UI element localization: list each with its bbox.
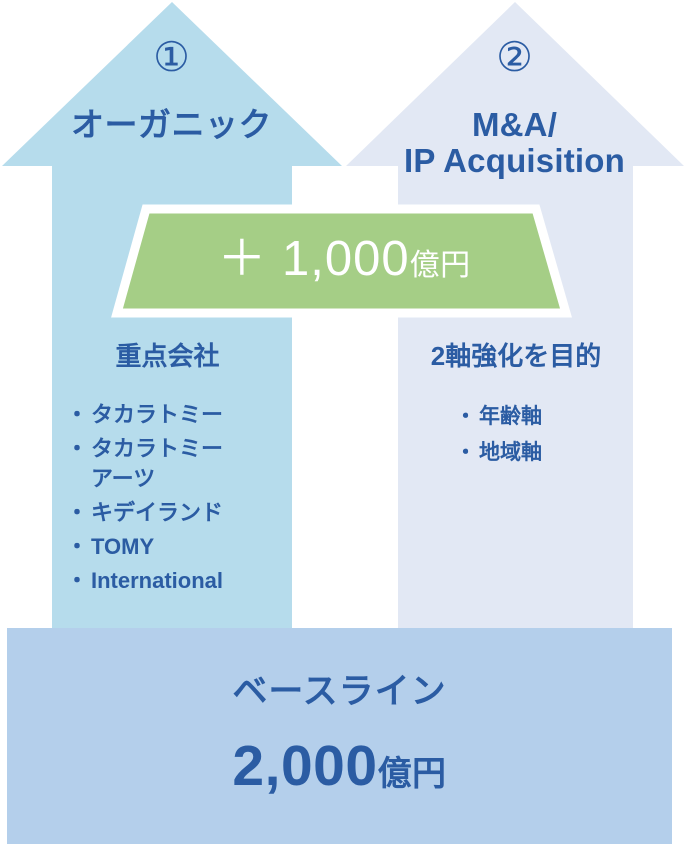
bullet-dot-icon: ・ [66, 434, 88, 463]
list-item-label: TOMY [91, 534, 154, 559]
list-item-label: International [91, 568, 223, 593]
bullet-dot-icon: ・ [66, 566, 88, 595]
mna-column-heading: 2軸強化を目的 [398, 342, 634, 371]
arrow-organic-label: オーガニック [0, 107, 343, 144]
baseline-value-unit: 億円 [378, 755, 447, 793]
list-item: ・地域軸 [455, 438, 640, 468]
list-item: ・タカラトミーアーツ [66, 434, 296, 493]
bullet-dot-icon: ・ [66, 400, 88, 429]
bullet-dot-icon: ・ [66, 498, 88, 527]
arrow-mna-shape [346, 2, 684, 640]
organic-column-heading: 重点会社 [40, 342, 295, 371]
list-item: ・タカラトミー [66, 400, 296, 429]
baseline-label: ベースライン [7, 672, 672, 711]
bullet-dot-icon: ・ [455, 402, 476, 432]
list-item-label: タカラトミーアーツ [91, 436, 223, 490]
mna-axis-list: ・年齢軸・地域軸 [455, 402, 640, 474]
circled-one-icon: ① [0, 35, 343, 81]
list-item: ・年齢軸 [455, 402, 640, 432]
organic-company-list: ・タカラトミー・タカラトミーアーツ・キデイランド・TOMY・Internatio… [66, 400, 296, 601]
list-item: ・キデイランド [66, 498, 296, 527]
list-item-label: 地域軸 [479, 441, 542, 464]
arrow-mna-label: M&A/ IP Acquisition [343, 107, 686, 178]
banner-amount: ＋ 1,000億円 [120, 232, 568, 287]
bullet-dot-icon: ・ [455, 438, 476, 468]
circled-two-icon: ② [343, 35, 686, 81]
bullet-dot-icon: ・ [66, 532, 88, 561]
banner-amount-value: ＋ 1,000 [217, 232, 409, 286]
list-item-label: 年齢軸 [479, 405, 542, 428]
growth-strategy-diagram: ① オーガニック ② M&A/ IP Acquisition ＋ 1,000億円… [0, 0, 686, 845]
list-item-label: キデイランド [91, 500, 223, 525]
baseline-value: 2,000億円 [7, 735, 672, 799]
banner-amount-unit: 億円 [410, 249, 471, 282]
list-item: ・International [66, 566, 296, 595]
list-item-label: タカラトミー [91, 402, 223, 427]
baseline-value-number: 2,000 [232, 734, 377, 798]
list-item: ・TOMY [66, 532, 296, 561]
